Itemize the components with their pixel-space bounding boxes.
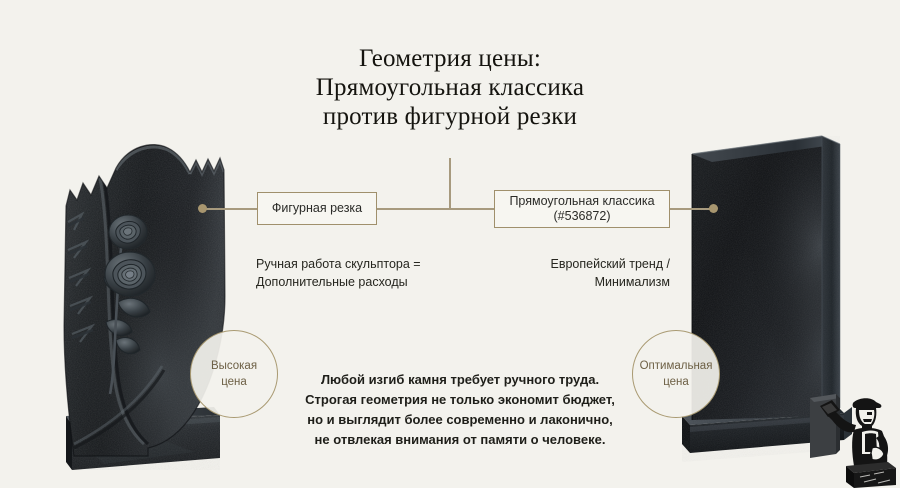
connector-dot-left	[198, 204, 207, 213]
label-box-figured-cut-text: Фигурная резка	[272, 201, 362, 216]
rose-upper	[109, 215, 147, 249]
price-circle-optimal: Оптимальная цена	[632, 330, 720, 418]
connector-line-horizontal-center-right	[449, 208, 494, 210]
infographic-canvas: Фигурная резка Прямоугольная классика (#…	[0, 0, 900, 488]
price-circle-high: Высокая цена	[190, 330, 278, 418]
connector-line-horizontal-center-left	[376, 208, 450, 210]
label-box-rectangular-classic-code: (#536872)	[554, 209, 611, 224]
caption-left-handwork: Ручная работа скульптора = Дополнительны…	[256, 255, 486, 291]
logo-stone-block	[846, 462, 896, 488]
caption-right-european-trend: Европейский тренд / Минимализм	[470, 255, 670, 291]
connector-dot-right	[709, 204, 718, 213]
body-paragraph: Любой изгиб камня требует ручного труда.…	[300, 370, 620, 450]
label-box-rectangular-classic[interactable]: Прямоугольная классика (#536872)	[494, 190, 670, 228]
label-box-rectangular-classic-text: Прямоугольная классика	[509, 194, 654, 209]
connector-line-left-stub	[203, 208, 258, 210]
stonemason-logo	[810, 392, 896, 488]
connector-line-vertical-title	[449, 158, 451, 210]
label-box-figured-cut[interactable]: Фигурная резка	[257, 192, 377, 225]
monument-left-figured	[44, 126, 234, 474]
rose-lower	[105, 252, 155, 296]
connector-line-right-stub	[669, 208, 714, 210]
page-title: Геометрия цены: Прямоугольная классика п…	[0, 44, 900, 131]
